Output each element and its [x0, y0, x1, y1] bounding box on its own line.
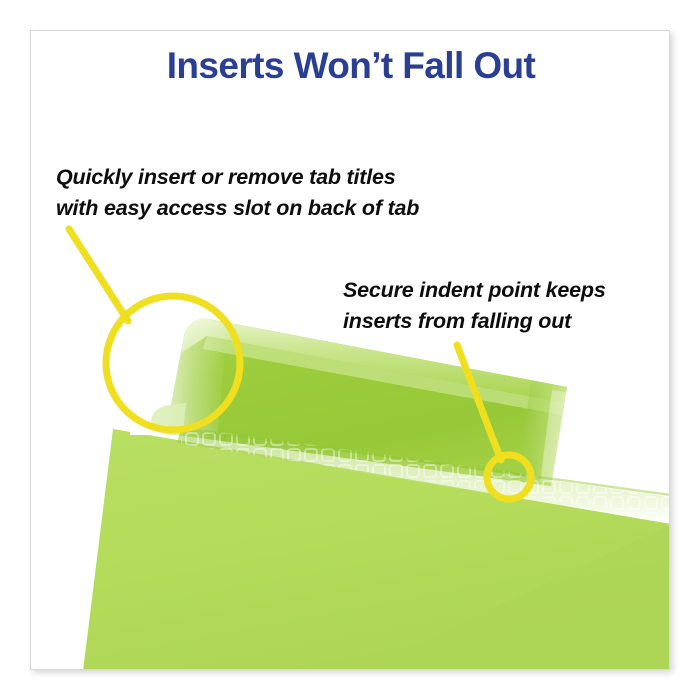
callout-right-line-2: inserts from falling out [343, 306, 606, 337]
callout-label-easy-access-slot: Quickly insert or remove tab titles with… [56, 162, 419, 224]
product-feature-card: Inserts Won’t Fall Out Quickly insert or… [30, 30, 670, 670]
screenshot-root: Inserts Won’t Fall Out Quickly insert or… [0, 0, 700, 700]
product-illustration [31, 31, 670, 670]
callout-leader-line-left [69, 229, 128, 321]
page-title: Inserts Won’t Fall Out [31, 45, 670, 87]
product-photo [31, 31, 670, 670]
callout-left-line-1: Quickly insert or remove tab titles [56, 162, 419, 193]
callout-right-line-1: Secure indent point keeps [343, 275, 606, 306]
callout-label-secure-indent-point: Secure indent point keeps inserts from f… [343, 275, 606, 337]
callout-left-line-2: with easy access slot on back of tab [56, 193, 419, 224]
